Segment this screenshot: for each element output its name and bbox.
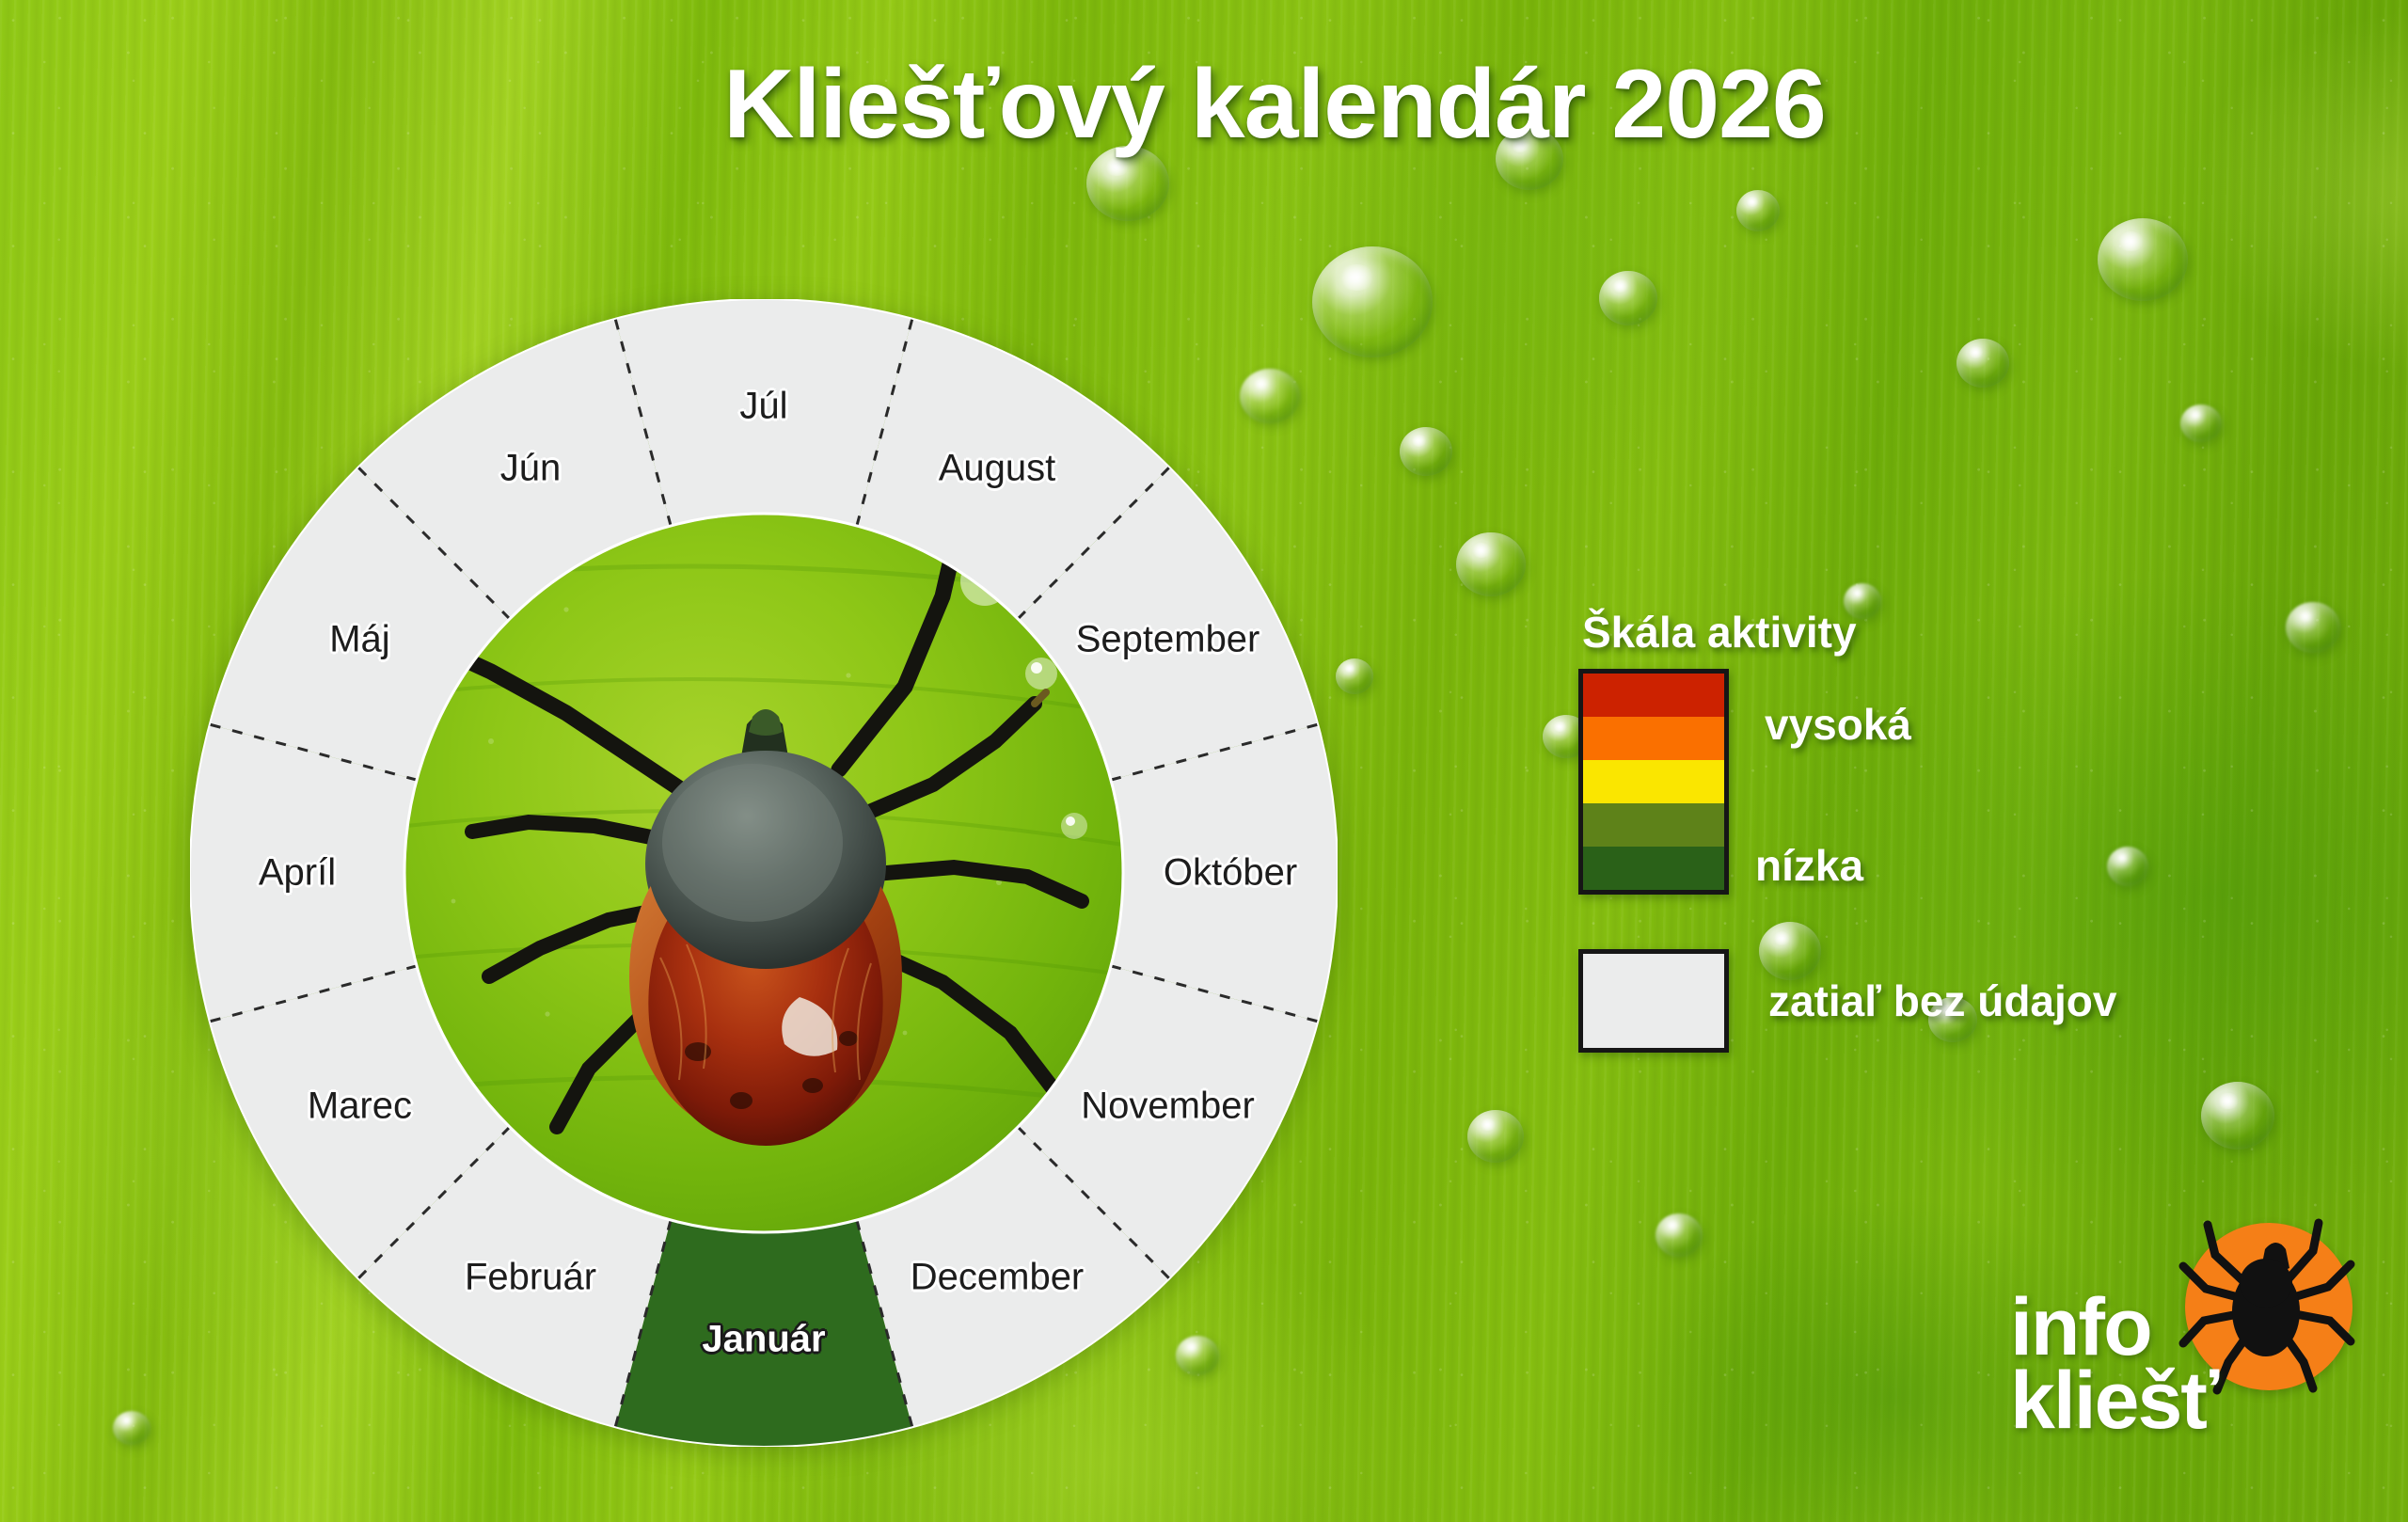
water-droplet bbox=[1599, 271, 1657, 325]
legend-title: Škála aktivity bbox=[1582, 607, 2314, 658]
scale-band-3 bbox=[1583, 803, 1724, 847]
legend-nodata-row: zatiaľ bez údajov bbox=[1578, 949, 2116, 1053]
water-droplet bbox=[1400, 427, 1452, 476]
water-droplet bbox=[113, 1411, 150, 1445]
scale-band-2 bbox=[1583, 760, 1724, 803]
legend-high-label: vysoká bbox=[1765, 699, 1911, 750]
logo-word-kliest: kliešť bbox=[2010, 1355, 2217, 1448]
water-droplet bbox=[1456, 532, 1526, 596]
water-droplet bbox=[2180, 404, 2222, 442]
legend-nodata-swatch bbox=[1578, 949, 1729, 1053]
tick-activity-donut-chart: JanuárFebruárMarecAprílMájJúnJúlAugustSe… bbox=[190, 299, 1338, 1447]
scale-band-1 bbox=[1583, 717, 1724, 760]
water-droplet bbox=[1336, 658, 1373, 694]
activity-scale-bar bbox=[1578, 669, 1729, 895]
scale-band-0 bbox=[1583, 674, 1724, 717]
water-droplet bbox=[1736, 190, 1780, 231]
legend-nodata-label: zatiaľ bez údajov bbox=[1768, 975, 2116, 1026]
water-droplet bbox=[1956, 339, 2009, 388]
water-droplet bbox=[1655, 1213, 1703, 1257]
water-droplet bbox=[2107, 847, 2148, 886]
water-droplet bbox=[2098, 218, 2188, 301]
water-droplet bbox=[2201, 1082, 2274, 1149]
activity-scale-legend: Škála aktivity vysoká nízka zatiaľ bez ú… bbox=[1561, 607, 2314, 669]
water-droplet bbox=[1467, 1110, 1524, 1163]
legend-low-label: nízka bbox=[1755, 840, 1863, 891]
scale-band-4 bbox=[1583, 847, 1724, 890]
brand-logo[interactable]: info kliešť bbox=[2008, 1213, 2384, 1496]
page-title: Kliešťový kalendár 2026 bbox=[0, 49, 2408, 161]
